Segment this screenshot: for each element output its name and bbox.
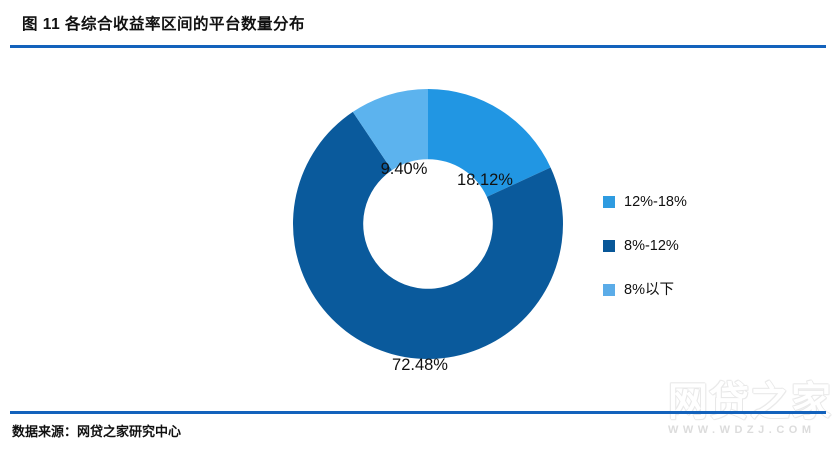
legend-item-8-12[interactable]: 8%-12% bbox=[603, 224, 753, 268]
legend-item-12-18[interactable]: 12%-18% bbox=[603, 180, 753, 224]
legend-swatch-icon bbox=[603, 196, 615, 208]
page-title: 图 11 各综合收益率区间的平台数量分布 bbox=[22, 12, 305, 34]
legend-label-8-12: 8%-12% bbox=[624, 239, 679, 254]
legend-item-under-8[interactable]: 8%以下 bbox=[603, 268, 753, 312]
legend-label-under-8: 8%以下 bbox=[624, 283, 674, 298]
legend-swatch-icon bbox=[603, 240, 615, 252]
legend-label-12-18: 12%-18% bbox=[624, 195, 687, 210]
data-label-12-18: 18.12% bbox=[457, 171, 513, 189]
donut-slices bbox=[293, 89, 563, 359]
chart-area: 18.12% 72.48% 9.40% 12%-18% 8%-12% 8%以下 bbox=[0, 50, 836, 408]
donut-chart: 18.12% 72.48% 9.40% bbox=[293, 89, 563, 359]
footer-divider bbox=[10, 411, 826, 414]
source-note: 数据来源：网贷之家研究中心 bbox=[12, 421, 181, 440]
header-divider bbox=[10, 45, 826, 48]
data-label-under-8: 9.40% bbox=[381, 160, 428, 178]
chart-legend: 12%-18% 8%-12% 8%以下 bbox=[603, 180, 753, 312]
legend-swatch-icon bbox=[603, 284, 615, 296]
donut-chart-svg: 18.12% 72.48% 9.40% bbox=[293, 89, 563, 359]
watermark-url-text: WWW.WDZJ.COM bbox=[668, 423, 828, 437]
data-label-8-12: 72.48% bbox=[392, 356, 448, 374]
